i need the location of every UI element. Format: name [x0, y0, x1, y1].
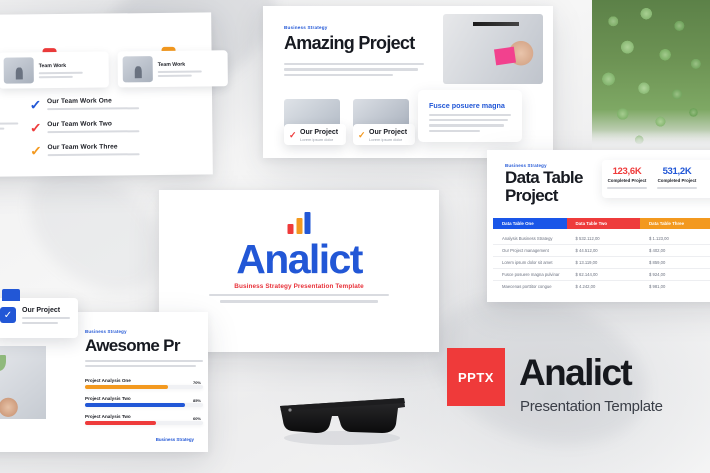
progress-label: Project Analysis Two — [85, 414, 203, 419]
table-cell: $ 44.512,00 — [567, 248, 641, 253]
plant-photo — [592, 0, 710, 152]
stat-label: Completed Project — [602, 178, 652, 183]
project-card-sub: Lorem ipsum dolor — [369, 137, 402, 142]
progress-bar-group: Project Analysis One 70% — [85, 378, 203, 389]
card-tab-handle — [2, 289, 20, 301]
table-cell: $ 924,00 — [640, 272, 710, 277]
sunglasses-prop — [272, 388, 412, 446]
stat-value: Ca — [702, 166, 710, 177]
placeholder-line — [47, 107, 139, 110]
progress-label: Project Analysis Two — [85, 396, 203, 401]
brand-tagline: Presentation Template — [520, 398, 663, 415]
placeholder-line — [47, 130, 139, 133]
slide-amazing-project[interactable]: Business Strategy Amazing Project ✓ Our … — [263, 6, 553, 158]
progress-percent: 85% — [193, 398, 201, 403]
hero-photo — [443, 14, 543, 84]
placeholder-line — [0, 122, 18, 125]
our-project-sub — [22, 317, 70, 324]
slide-data-table[interactable]: Business Strategy Data Table Project 123… — [487, 150, 710, 302]
slide-title: Awesome Pr — [85, 336, 180, 356]
slide-eyebrow: Business Strategy — [85, 329, 127, 334]
table-cell: $ 13.119,00 — [567, 260, 641, 265]
project-card-title: Our Project — [369, 129, 407, 136]
progress-percent: 70% — [193, 380, 201, 385]
slide-eyebrow: Business Strategy — [284, 25, 327, 30]
placeholder-line — [0, 128, 4, 131]
progress-track: 60% — [85, 421, 203, 425]
progress-fill — [85, 403, 185, 407]
table-header-cell: Data Table One — [493, 218, 567, 229]
callout-title: Fusce posuere magna — [429, 101, 505, 110]
team-photo — [123, 56, 153, 82]
table-cell: $ 62.144,00 — [567, 272, 641, 277]
stat-label: Completed Project — [652, 178, 702, 183]
progress-bar-group: Project Analysis Two 60% — [85, 414, 203, 425]
progress-percent: 60% — [193, 416, 201, 421]
table-cell: $ 4.242,00 — [567, 284, 641, 289]
placeholder-line — [39, 71, 83, 73]
cover-body-placeholder — [209, 294, 389, 303]
checkbox-icon[interactable]: ✓ — [0, 307, 16, 323]
photo-accent — [473, 22, 519, 26]
callout-body — [429, 114, 511, 132]
table-cell: $ 402,00 — [640, 248, 710, 253]
logo-bar-chart-icon — [288, 212, 311, 234]
logo-bar — [288, 224, 294, 234]
table-header-row: Data Table One Data Table Two Data Table… — [493, 218, 710, 229]
table-cell: $ 859,00 — [640, 260, 710, 265]
placeholder-line — [48, 153, 140, 156]
placeholder-line — [39, 75, 73, 77]
team-checklist-item[interactable]: ✓ Our Team Work Three — [31, 143, 140, 157]
awesome-photo — [0, 346, 46, 419]
check-icon: ✓ — [29, 98, 41, 111]
progress-label: Project Analysis One — [85, 378, 203, 383]
project-card[interactable]: ✓ Our Project Lorem ipsum dolor — [284, 124, 346, 145]
table-row: Maecenas porttitor congue $ 4.242,00 $ 9… — [493, 280, 710, 292]
brand-block: PPTX Analict Presentation Template — [447, 348, 707, 426]
callout-card[interactable]: Fusce posuere magna — [418, 90, 522, 142]
table-cell: Lorem ipsum dolor sit amet — [493, 260, 567, 265]
table-cell: Maecenas porttitor congue — [493, 284, 567, 289]
project-card-sub: Lorem ipsum dolor — [300, 137, 333, 142]
team-work-card[interactable]: Team Work — [118, 50, 228, 87]
stat-label: Ca — [702, 178, 710, 183]
team-work-card[interactable]: Team Work — [0, 52, 109, 89]
team-checklist-item[interactable]: ✓ Our Team Work Two — [30, 120, 139, 134]
brand-name: Analict — [519, 352, 631, 394]
slide-team[interactable]: 1 2 3 Team Work Team Work Team Work — [0, 12, 213, 177]
placeholder-line — [158, 70, 202, 72]
stat-item: 123,6K Completed Project — [602, 160, 652, 198]
stat-value: 123,6K — [602, 166, 652, 177]
progress-bar-group: Project Analysis Two 85% — [85, 396, 203, 407]
slide-footer: Business Strategy — [156, 437, 194, 442]
team-checklist-item[interactable]: ✓ Our Team Work One — [30, 97, 139, 111]
table-header-cell: Data Table Three — [640, 218, 710, 229]
check-icon: ✓ — [289, 130, 297, 141]
team-checklist-label: Our Team Work Three — [47, 143, 139, 151]
team-checklist-label: Our Team Work One — [47, 97, 139, 105]
stats-panel: 123,6K Completed Project 531,2K Complete… — [602, 160, 710, 198]
body-placeholder — [284, 63, 424, 76]
project-card[interactable]: ✓ Our Project Lorem ipsum dolor — [353, 124, 415, 145]
pptx-badge: PPTX — [447, 348, 505, 406]
team-checklist-label: Our Team Work Two — [47, 120, 139, 128]
stat-value: 531,2K — [652, 166, 702, 177]
photo-accent — [494, 47, 516, 66]
table-cell: $ 1.123,00 — [640, 236, 710, 241]
check-icon: ✓ — [30, 121, 42, 134]
table-header-cell: Data Table Two — [567, 218, 641, 229]
stat-item: 531,2K Completed Project — [652, 160, 702, 198]
placeholder-line — [158, 74, 192, 76]
progress-track: 85% — [85, 403, 203, 407]
table-cell: $ 981,00 — [640, 284, 710, 289]
our-project-card[interactable]: ✓ Our Project — [0, 298, 78, 338]
our-project-title: Our Project — [22, 307, 60, 314]
stat-item: Ca Ca — [702, 160, 710, 198]
table-cell: $ 532.112,00 — [567, 236, 641, 241]
cover-subtitle: Business Strategy Presentation Template — [159, 283, 439, 290]
team-photo — [4, 57, 34, 83]
slide-title: Amazing Project — [284, 33, 415, 54]
table-cell: Analysis Business Strategy — [493, 236, 567, 241]
progress-fill — [85, 421, 156, 425]
screenshot-stage: 1 2 3 Team Work Team Work Team Work — [0, 0, 710, 473]
progress-track: 70% — [85, 385, 203, 389]
cover-brand-title: Analict — [159, 236, 439, 283]
logo-bar — [305, 212, 311, 234]
plant-decor — [0, 355, 6, 371]
progress-fill — [85, 385, 168, 389]
project-card-title: Our Project — [300, 129, 338, 136]
table-cell: Fusce posuere magna pulvinar — [493, 272, 567, 277]
slide-title: Data Table Project — [505, 169, 591, 205]
team-card-caption: Team Work — [39, 62, 83, 68]
check-icon: ✓ — [358, 130, 366, 141]
body-placeholder — [85, 360, 203, 367]
table-cell: Our Project management — [493, 248, 567, 253]
check-icon: ✓ — [30, 144, 42, 157]
logo-bar — [296, 218, 302, 234]
team-card-caption: Team Work — [158, 61, 202, 67]
